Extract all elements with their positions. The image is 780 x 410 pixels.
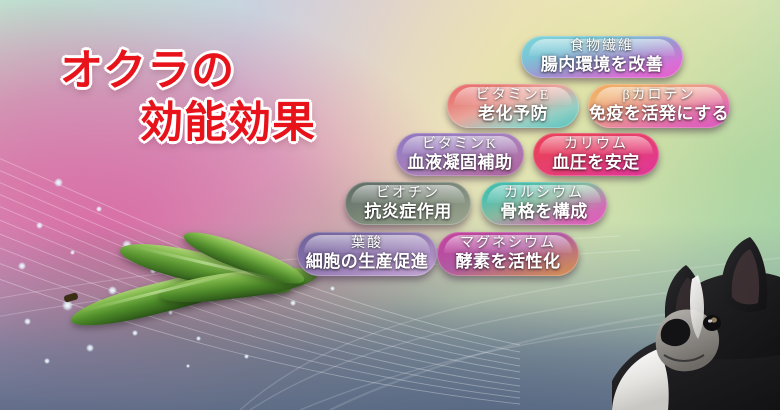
badge-benefit-label: 細胞の生産促進 — [306, 252, 429, 272]
badge-nutrient-label: カルシウム — [504, 186, 584, 202]
nutrient-badge-magnesium[interactable]: マグネシウム酵素を活性化 — [437, 232, 579, 276]
nutrient-badge-vitamin-e[interactable]: ビタミンE老化予防 — [447, 84, 579, 128]
nutrient-badge-potassium[interactable]: カリウム血圧を安定 — [533, 133, 659, 176]
okra-pods-image — [62, 238, 328, 370]
badge-benefit-label: 骨格を構成 — [500, 202, 588, 222]
badge-nutrient-label: ビタミンK — [422, 137, 498, 153]
badge-benefit-label: 血液凝固補助 — [408, 153, 513, 173]
infographic-canvas: オクラの 効能効果 食物繊維腸内環境を改善ビタミンE老化予防βカロテン免疫を活発… — [0, 0, 780, 410]
badge-nutrient-label: 葉酸 — [351, 236, 383, 252]
nutrient-badge-vitamin-k[interactable]: ビタミンK血液凝固補助 — [396, 133, 524, 176]
badge-benefit-label: 免疫を活発にする — [589, 104, 729, 124]
badge-nutrient-label: ビオチン — [376, 186, 440, 202]
badge-benefit-label: 血圧を安定 — [552, 153, 640, 173]
badge-benefit-label: 老化予防 — [478, 104, 548, 124]
badge-nutrient-label: 食物繊維 — [570, 39, 634, 55]
nutrient-badge-calcium[interactable]: カルシウム骨格を構成 — [481, 182, 607, 225]
badge-benefit-label: 抗炎症作用 — [364, 202, 452, 222]
nutrient-badge-biotin[interactable]: ビオチン抗炎症作用 — [345, 182, 471, 225]
french-bulldog-image — [540, 205, 780, 410]
badge-benefit-label: 腸内環境を改善 — [541, 55, 664, 75]
nutrient-badge-dietary-fiber[interactable]: 食物繊維腸内環境を改善 — [521, 36, 683, 78]
nutrient-badge-beta-carotene[interactable]: βカロテン免疫を活発にする — [588, 84, 730, 128]
badge-nutrient-label: カリウム — [564, 137, 628, 153]
badge-benefit-label: 酵素を活性化 — [456, 252, 561, 272]
badge-nutrient-label: マグネシウム — [460, 236, 556, 252]
badge-nutrient-label: ビタミンE — [476, 88, 551, 104]
badge-nutrient-label: βカロテン — [622, 88, 695, 104]
nutrient-badge-folic-acid[interactable]: 葉酸細胞の生産促進 — [297, 232, 437, 276]
